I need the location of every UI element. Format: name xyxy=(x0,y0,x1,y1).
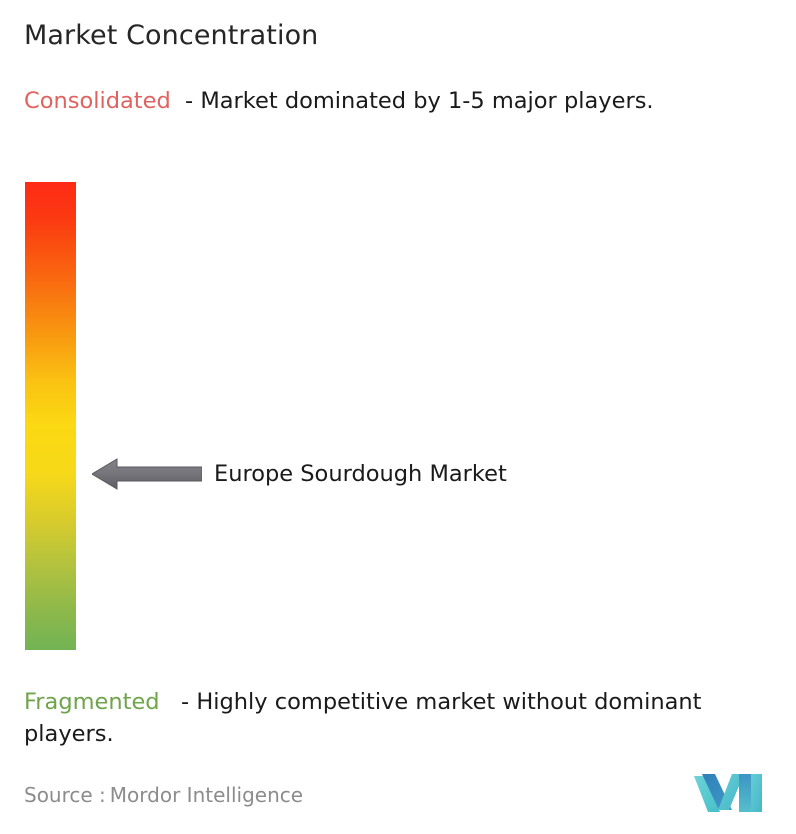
consolidated-separator: - xyxy=(171,88,201,114)
mordor-intelligence-logo-icon xyxy=(694,770,768,816)
fragmented-description: Fragmented - Highly competitive market w… xyxy=(24,686,784,750)
market-pointer-label: Europe Sourdough Market xyxy=(214,461,507,487)
source-label: Source : xyxy=(24,783,106,807)
fragmented-separator: - xyxy=(160,689,197,715)
market-pointer: Europe Sourdough Market xyxy=(92,456,507,492)
consolidated-text: Market dominated by 1-5 major players. xyxy=(200,88,653,114)
source-credit: Source :Mordor Intelligence xyxy=(24,783,303,807)
page-title: Market Concentration xyxy=(24,20,318,51)
source-name: Mordor Intelligence xyxy=(110,783,303,807)
left-arrow-icon xyxy=(92,456,202,492)
fragmented-keyword: Fragmented xyxy=(24,689,160,715)
concentration-gradient-bar xyxy=(25,182,76,650)
consolidated-keyword: Consolidated xyxy=(24,88,171,114)
consolidated-description: Consolidated - Market dominated by 1-5 m… xyxy=(24,85,772,117)
